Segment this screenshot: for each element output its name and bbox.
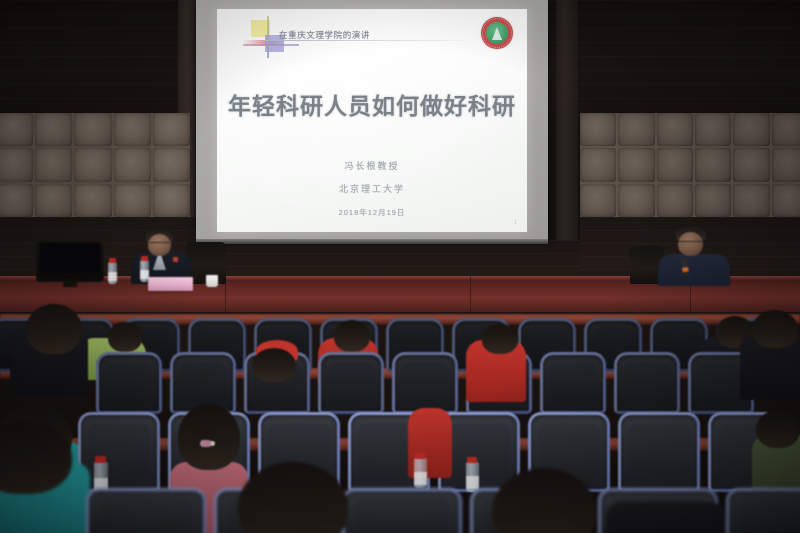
slide-affiliation-text: 北京理工大学 (217, 182, 527, 195)
projection-screen: 在重庆文理学院的演讲 年轻科研人员如何做好科研 冯长根教授 北京理工大学 201… (196, 0, 548, 240)
acoustic-panel-band-left (0, 113, 190, 217)
acoustic-panel (618, 148, 654, 181)
acoustic-panel (772, 184, 800, 217)
acoustic-panel (618, 113, 654, 146)
acoustic-panel (695, 148, 731, 181)
speaker-with-microphone-right (650, 226, 738, 286)
hair-clip-icon (200, 440, 212, 447)
acoustic-panel (695, 184, 731, 217)
auditorium-seat[interactable] (78, 412, 160, 492)
slide-title-text: 年轻科研人员如何做好科研 (217, 87, 527, 121)
audience-member-jacket (606, 502, 726, 533)
university-emblem-logo-icon (481, 17, 513, 49)
acoustic-panel (580, 148, 616, 181)
auditorium-seat[interactable] (618, 412, 700, 492)
slide-page-number: 1 (514, 220, 517, 226)
water-bottle (414, 458, 427, 488)
acoustic-panel (733, 184, 769, 217)
acoustic-panel (114, 113, 151, 146)
acoustic-panel (580, 184, 616, 217)
acoustic-panel (580, 113, 616, 146)
auditorium-seat[interactable] (96, 352, 162, 414)
tea-cup (206, 275, 218, 287)
acoustic-panel (74, 113, 111, 146)
acoustic-panel (35, 184, 72, 217)
stage-monitor (36, 240, 104, 282)
glasses-icon (149, 242, 170, 245)
acoustic-panel (657, 113, 693, 146)
acoustic-panel (35, 113, 72, 146)
auditorium-seat[interactable] (726, 488, 800, 533)
acoustic-panel (657, 184, 693, 217)
water-bottle (466, 462, 479, 492)
auditorium-seat[interactable] (342, 488, 462, 533)
audience-member-head (334, 320, 370, 352)
acoustic-panel (772, 113, 800, 146)
acoustic-panel (695, 113, 731, 146)
head (148, 234, 171, 256)
acoustic-panel (153, 113, 190, 146)
acoustic-panel (114, 148, 151, 181)
audience-member-head (756, 410, 800, 448)
audience-member-head (482, 324, 518, 354)
desk-nameplate (148, 277, 193, 291)
auditorium-seat[interactable] (392, 352, 458, 414)
slide-header-rule (265, 40, 465, 41)
audience-area (0, 312, 800, 533)
lecture-hall-scene: 在重庆文理学院的演讲 年轻科研人员如何做好科研 冯长根教授 北京理工大学 201… (0, 0, 800, 533)
acoustic-panel (153, 184, 190, 217)
acoustic-panel (0, 148, 33, 181)
acoustic-panel-band-right (580, 113, 800, 217)
audience-member-head (108, 322, 142, 352)
acoustic-panel (618, 184, 654, 217)
acoustic-panel (772, 148, 800, 181)
audience-member-head (178, 404, 240, 470)
acoustic-panel (733, 148, 769, 181)
auditorium-seat[interactable] (318, 352, 384, 414)
acoustic-panel (74, 148, 111, 181)
acoustic-panel (114, 184, 151, 217)
acoustic-panel (153, 148, 190, 181)
acoustic-panel (35, 148, 72, 181)
head (678, 232, 703, 256)
acoustic-panel (733, 113, 769, 146)
glasses-icon (678, 241, 702, 244)
auditorium-seat[interactable] (86, 488, 206, 533)
acoustic-panel (74, 184, 111, 217)
audience-member-head (252, 348, 296, 382)
lapel-badge-icon (173, 257, 178, 262)
slide-speaker-text: 冯长根教授 (217, 159, 527, 172)
audience-member-head (26, 304, 82, 354)
acoustic-panel (0, 184, 33, 217)
slide-date-text: 2018年12月19日 (217, 207, 527, 218)
auditorium-seat[interactable] (540, 352, 606, 414)
acoustic-panel (0, 113, 33, 146)
audience-member-head (752, 310, 798, 348)
auditorium-seat[interactable] (614, 352, 680, 414)
water-bottle (108, 262, 117, 284)
acoustic-panel (657, 148, 693, 181)
presentation-slide: 在重庆文理学院的演讲 年轻科研人员如何做好科研 冯长根教授 北京理工大学 201… (217, 9, 527, 232)
